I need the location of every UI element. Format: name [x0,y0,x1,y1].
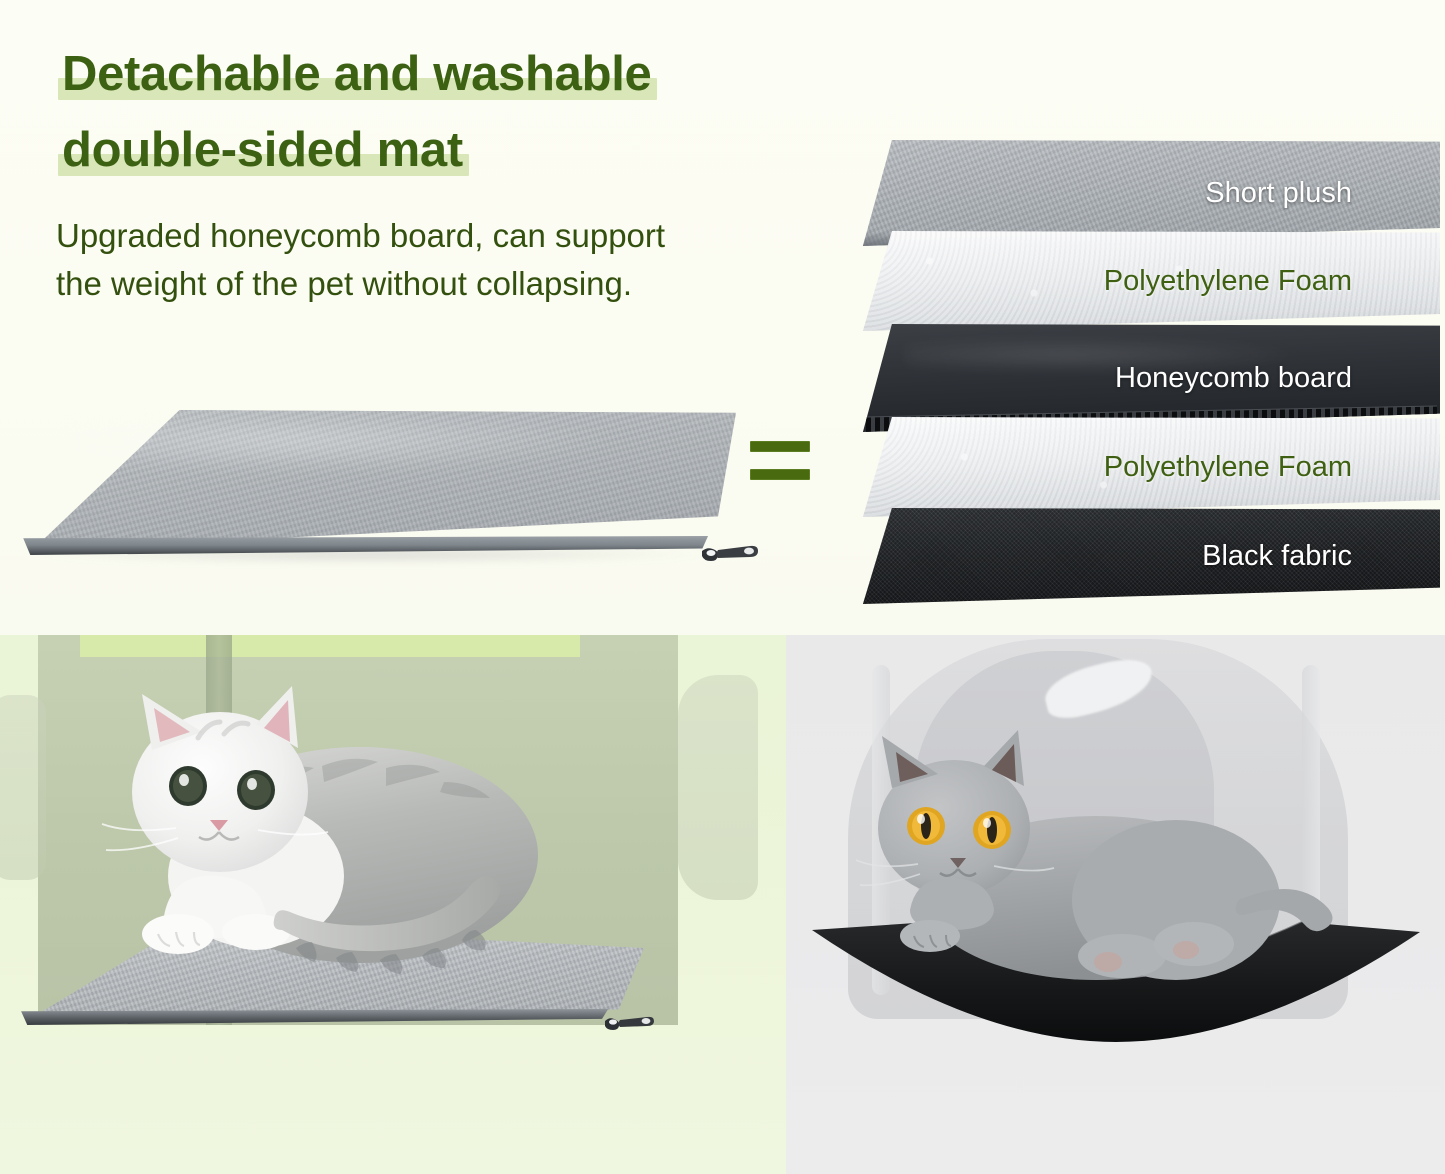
layer-label-3: Honeycomb board [1115,364,1440,393]
equals-sign-icon [750,437,812,491]
layer-label-5: Black fabric [1202,542,1440,571]
cat-photo-right [846,730,1346,1005]
layer-label-2: Polyethylene Foam [1104,267,1440,296]
mat-product-photo [8,398,768,598]
zipper-pull-icon-2 [602,1011,656,1037]
layer-black-fabric: Black fabric [860,508,1440,604]
headline-line-2-text: double-sided mat [62,123,463,177]
carrier-side-left [0,695,46,880]
layer-stack-diagram: Short plush Polyethylene Foam Honeycomb … [860,140,1445,595]
top-section: Detachable and washable double-sided mat… [0,0,1445,635]
headline: Detachable and washable double-sided mat [58,36,858,188]
mat-highlight [68,420,628,472]
cat-photo-left [60,680,620,980]
flat-mat-edge [18,1009,636,1025]
comparison-panel-right [786,635,1445,1174]
subhead: Upgraded honeycomb board, can support th… [56,212,816,308]
carrier-top-strip [80,635,580,657]
headline-line-1: Detachable and washable [58,36,657,112]
subhead-line-2: the weight of the pet without collapsing… [56,260,816,308]
headline-line-1-text: Detachable and washable [62,47,651,101]
equals-bar-top [750,441,810,452]
subhead-line-1: Upgraded honeycomb board, can support [56,212,816,260]
equals-bar-bottom [750,469,810,480]
comparison-panel-left [0,635,786,1174]
layer-polyethylene-foam-bottom: Polyethylene Foam [860,417,1440,517]
zipper-pull-icon [698,540,760,568]
comparison-section: Honeycomb board PP board VS [0,635,1445,1174]
headline-line-2: double-sided mat [58,112,469,188]
layer-honeycomb-board: Honeycomb board [860,324,1440,432]
layer-label-4: Polyethylene Foam [1104,453,1440,482]
layer-label-1: Short plush [1205,179,1440,208]
product-infographic: Detachable and washable double-sided mat… [0,0,1445,1174]
layer-polyethylene-foam-top: Polyethylene Foam [860,231,1440,331]
carrier-side-right [678,675,758,900]
